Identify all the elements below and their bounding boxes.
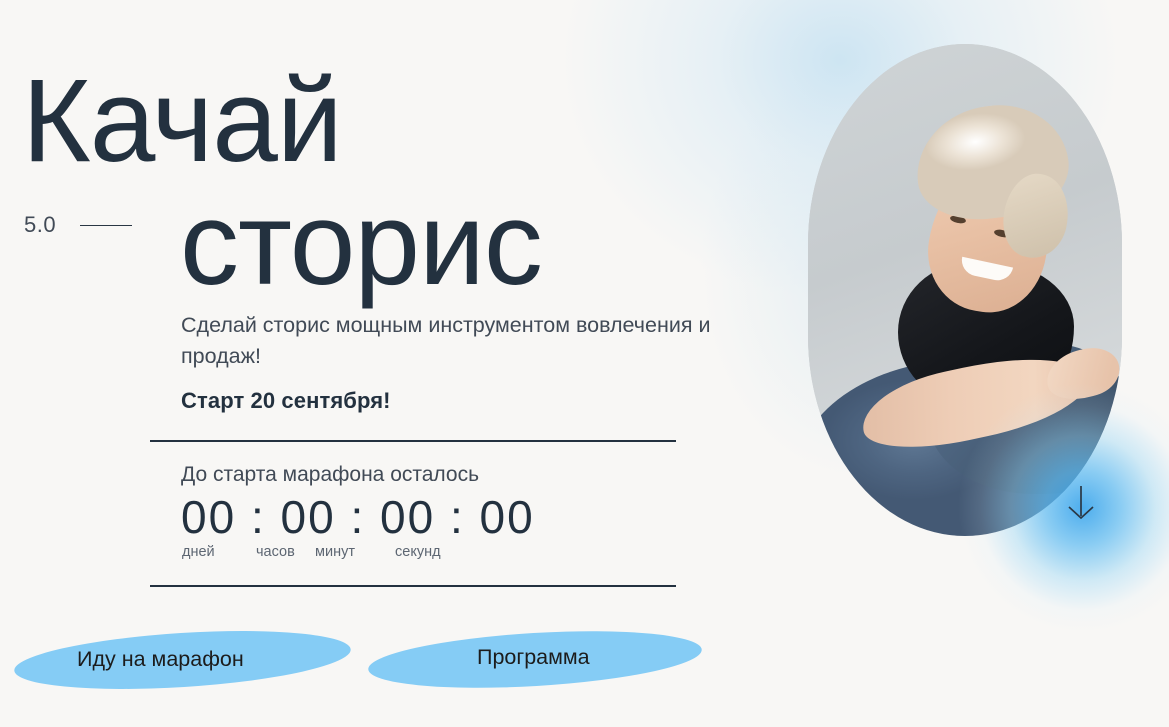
countdown-unit-hours: часов (256, 544, 295, 560)
divider-bottom (150, 585, 676, 587)
join-marathon-button[interactable]: Иду на марафон (13, 622, 353, 697)
countdown-unit-days: дней (182, 544, 215, 560)
title-line-1: Качай (22, 62, 762, 180)
hero-section: 5.0 Качай сторис Сделай сторис мощным ин… (0, 0, 1169, 727)
arrow-down-icon[interactable] (1066, 484, 1096, 524)
program-button[interactable]: Программа (367, 623, 704, 696)
join-marathon-button-label: Иду на марафон (77, 647, 244, 672)
hero-photo (808, 44, 1122, 536)
start-date-text: Старт 20 сентября! (181, 388, 391, 414)
page-title: Качай сторис (22, 62, 762, 304)
cta-button-row: Иду на марафон Программа (0, 625, 760, 705)
divider-top (150, 440, 676, 442)
title-line-2: сторис (22, 184, 762, 304)
countdown-label: До старта марафона осталось (181, 463, 701, 487)
subtitle-text: Сделай сторис мощным инструментом вовлеч… (181, 310, 726, 372)
countdown-digits: 00 : 00 : 00 : 00 (181, 493, 701, 542)
countdown-unit-labels: дней часов минут секунд (181, 544, 701, 564)
program-button-label: Программа (477, 645, 590, 670)
countdown-unit-seconds: секунд (395, 544, 441, 560)
countdown-unit-minutes: минут (315, 544, 355, 560)
hero-photo-frame (808, 44, 1122, 536)
countdown-timer: До старта марафона осталось 00 : 00 : 00… (181, 463, 701, 564)
